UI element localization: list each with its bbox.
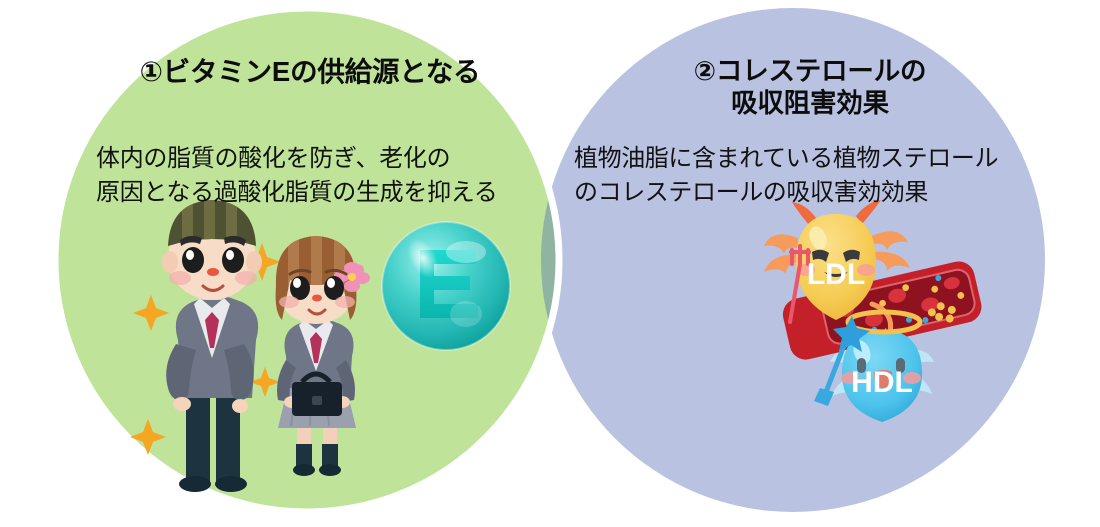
vitamin-e-capsule	[382, 222, 510, 350]
hdl-label: HDL	[851, 366, 913, 399]
venn-diagram: LDL	[0, 0, 1100, 527]
diagram-canvas: LDL	[0, 0, 1100, 527]
ldl-label: LDL	[807, 258, 865, 291]
